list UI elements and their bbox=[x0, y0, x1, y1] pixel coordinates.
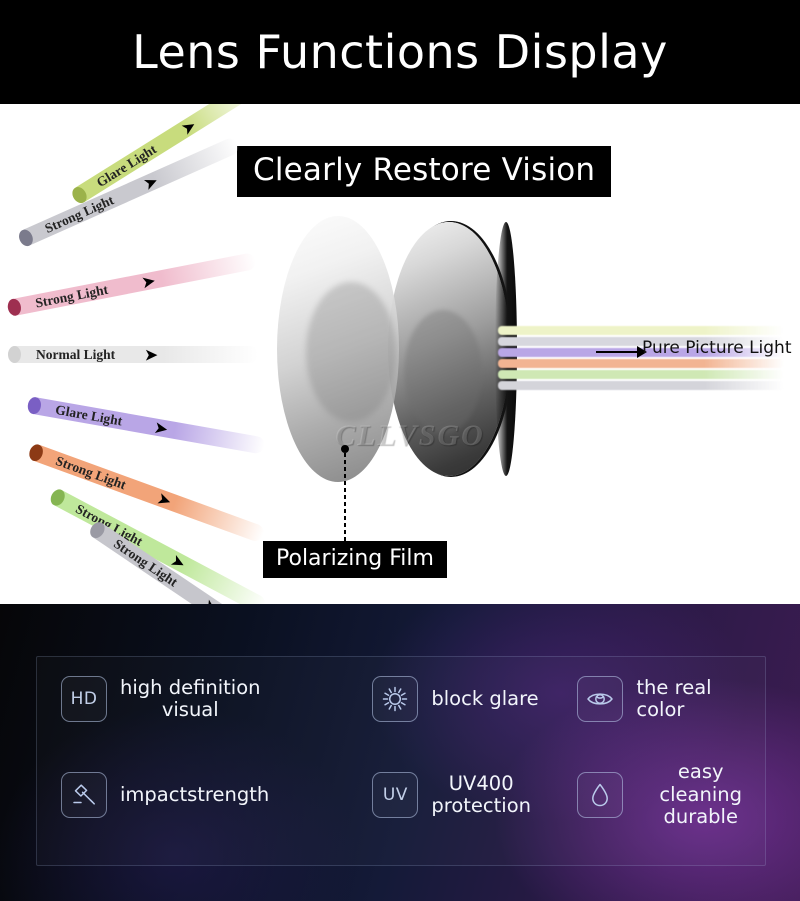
output-light-band bbox=[498, 326, 784, 335]
features-panel: HDhigh definitionvisualblock glarethe re… bbox=[36, 656, 766, 866]
lens-diagram-section: Clearly Restore Vision Glare Light➤Stron… bbox=[0, 104, 800, 604]
ray-arrow-icon: ➤ bbox=[155, 489, 174, 510]
feature-label-line: the real color bbox=[636, 677, 765, 722]
features-row-bottom: impactstrengthUVUV400protectioneasy clea… bbox=[37, 753, 765, 837]
ray-end-cap-icon bbox=[17, 227, 36, 248]
ray-arrow-icon: ➤ bbox=[144, 346, 158, 363]
light-ray: Glare Light➤ bbox=[27, 396, 266, 454]
ray-end-cap-icon bbox=[8, 346, 21, 363]
polarizing-film-label: Polarizing Film bbox=[276, 546, 434, 571]
features-section: HDhigh definitionvisualblock glarethe re… bbox=[0, 604, 800, 901]
ray-end-cap-icon bbox=[27, 443, 45, 463]
icon-text-label: HD bbox=[71, 689, 98, 709]
output-arrow-icon bbox=[596, 351, 638, 353]
ray-label: Normal Light bbox=[36, 347, 115, 363]
front-lens-shading bbox=[306, 282, 396, 422]
feature-label: easy cleaningdurable bbox=[636, 761, 765, 828]
feature-label-line: durable bbox=[636, 806, 765, 828]
light-ray: Strong Light➤ bbox=[6, 252, 257, 317]
feature-label-line: block glare bbox=[431, 688, 538, 710]
output-label: Pure Picture Light bbox=[642, 338, 792, 358]
section-banner-label: Clearly Restore Vision bbox=[253, 152, 595, 188]
ray-end-cap-icon bbox=[48, 487, 67, 508]
feature-item: UVUV400protection bbox=[372, 753, 577, 837]
header-banner: Lens Functions Display bbox=[0, 0, 800, 104]
ray-label: Strong Light bbox=[34, 281, 109, 311]
infographic-page: Lens Functions Display Clearly Restore V… bbox=[0, 0, 800, 901]
eye-icon bbox=[577, 676, 623, 722]
feature-label: impactstrength bbox=[120, 784, 269, 806]
uv-icon: UV bbox=[372, 772, 418, 818]
light-ray: Normal Light➤ bbox=[8, 346, 258, 363]
feature-label-line: impactstrength bbox=[120, 784, 269, 806]
brand-watermark: CLLVSGO bbox=[300, 419, 520, 453]
feature-label-line: visual bbox=[120, 699, 261, 721]
feature-item: block glare bbox=[372, 657, 577, 741]
output-light-band bbox=[498, 359, 784, 368]
feature-label-line: easy cleaning bbox=[636, 761, 765, 806]
feature-label: UV400protection bbox=[431, 773, 531, 818]
rear-lens-shading bbox=[404, 310, 482, 434]
ray-arrow-icon: ➤ bbox=[178, 116, 199, 138]
feature-label: block glare bbox=[431, 688, 538, 710]
hd-icon: HD bbox=[61, 676, 107, 722]
sun-icon bbox=[372, 676, 418, 722]
feature-item: the real color bbox=[577, 657, 765, 741]
feature-label: the real color bbox=[636, 677, 765, 722]
feature-label-line: UV400 bbox=[431, 773, 531, 795]
callout-leader-line bbox=[344, 453, 346, 541]
ray-label: Strong Light bbox=[54, 453, 129, 493]
output-light-band bbox=[498, 381, 784, 390]
ray-arrow-icon: ➤ bbox=[141, 172, 161, 193]
features-row-top: HDhigh definitionvisualblock glarethe re… bbox=[37, 657, 765, 741]
feature-label: high definitionvisual bbox=[120, 677, 261, 722]
feature-label-line: protection bbox=[431, 795, 531, 817]
droplet-icon bbox=[577, 772, 623, 818]
ray-arrow-icon: ➤ bbox=[140, 271, 157, 290]
section-banner: Clearly Restore Vision bbox=[237, 146, 611, 197]
output-light-band bbox=[498, 370, 784, 379]
ray-end-cap-icon bbox=[6, 298, 22, 317]
feature-item: easy cleaningdurable bbox=[577, 753, 765, 837]
feature-item: HDhigh definitionvisual bbox=[37, 657, 372, 741]
ray-arrow-icon: ➤ bbox=[153, 418, 170, 437]
ray-end-cap-icon bbox=[27, 396, 43, 415]
feature-label-line: high definition bbox=[120, 677, 261, 699]
ray-label: Glare Light bbox=[54, 401, 123, 429]
hammer-icon bbox=[61, 772, 107, 818]
polarizing-film-callout: Polarizing Film bbox=[263, 541, 447, 578]
feature-item: impactstrength bbox=[37, 753, 372, 837]
callout-dot-icon bbox=[341, 445, 349, 453]
ray-arrow-icon: ➤ bbox=[200, 596, 221, 604]
page-title: Lens Functions Display bbox=[132, 25, 668, 79]
icon-text-label: UV bbox=[383, 785, 408, 805]
